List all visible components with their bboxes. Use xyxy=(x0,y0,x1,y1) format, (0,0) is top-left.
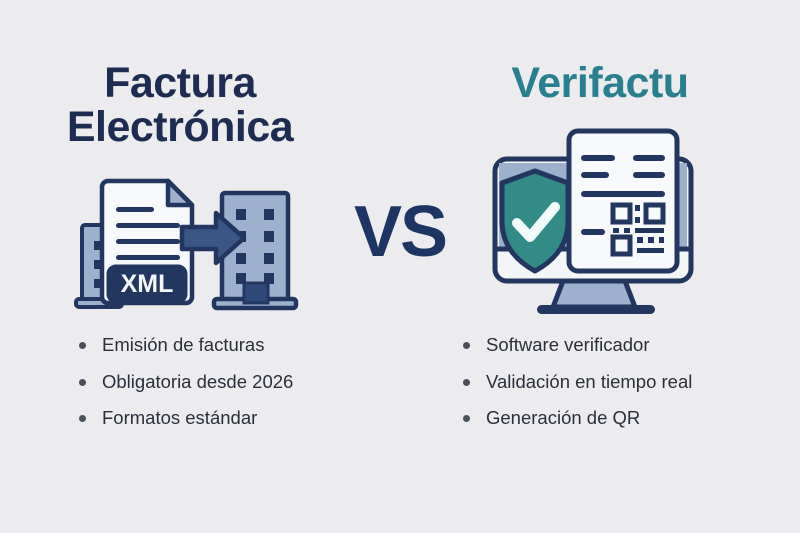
list-item: Validación en tiempo real xyxy=(460,373,780,392)
list-item-label: Validación en tiempo real xyxy=(486,371,692,392)
bullet-dot-icon xyxy=(79,342,86,349)
right-bullet-list: Software verificador Validación en tiemp… xyxy=(460,336,780,446)
bullet-dot-icon xyxy=(79,415,86,422)
bullet-dot-icon xyxy=(463,342,470,349)
right-illustration xyxy=(485,125,710,325)
list-item: Emisión de facturas xyxy=(76,336,376,355)
list-item: Obligatoria desde 2026 xyxy=(76,373,376,392)
list-item: Software verificador xyxy=(460,336,780,355)
right-panel-title: Verifactu xyxy=(460,62,740,106)
left-panel-title: Factura Electrónica xyxy=(30,62,330,150)
list-item-label: Emisión de facturas xyxy=(102,334,264,355)
right-title-line-1: Verifactu xyxy=(511,59,688,107)
list-item-label: Obligatoria desde 2026 xyxy=(102,371,293,392)
left-bullet-list: Emisión de facturas Obligatoria desde 20… xyxy=(76,336,376,446)
list-item-label: Formatos estándar xyxy=(102,407,257,428)
list-item: Generación de QR xyxy=(460,409,780,428)
qr-document-icon xyxy=(569,131,677,271)
list-item-label: Generación de QR xyxy=(486,407,640,428)
list-item-label: Software verificador xyxy=(486,334,649,355)
versus-label: VS xyxy=(330,196,470,268)
left-title-line-1: Factura xyxy=(30,62,330,106)
xml-badge-label: XML xyxy=(121,270,174,298)
list-item: Formatos estándar xyxy=(76,409,376,428)
infographic-canvas: Factura Electrónica Verifactu xyxy=(0,0,800,533)
bullet-dot-icon xyxy=(79,379,86,386)
xml-document-icon: XML xyxy=(102,181,192,303)
left-illustration: XML xyxy=(70,165,320,320)
left-title-line-2: Electrónica xyxy=(30,106,330,150)
shield-check-icon xyxy=(502,171,568,271)
bullet-dot-icon xyxy=(463,415,470,422)
bullet-dot-icon xyxy=(463,379,470,386)
